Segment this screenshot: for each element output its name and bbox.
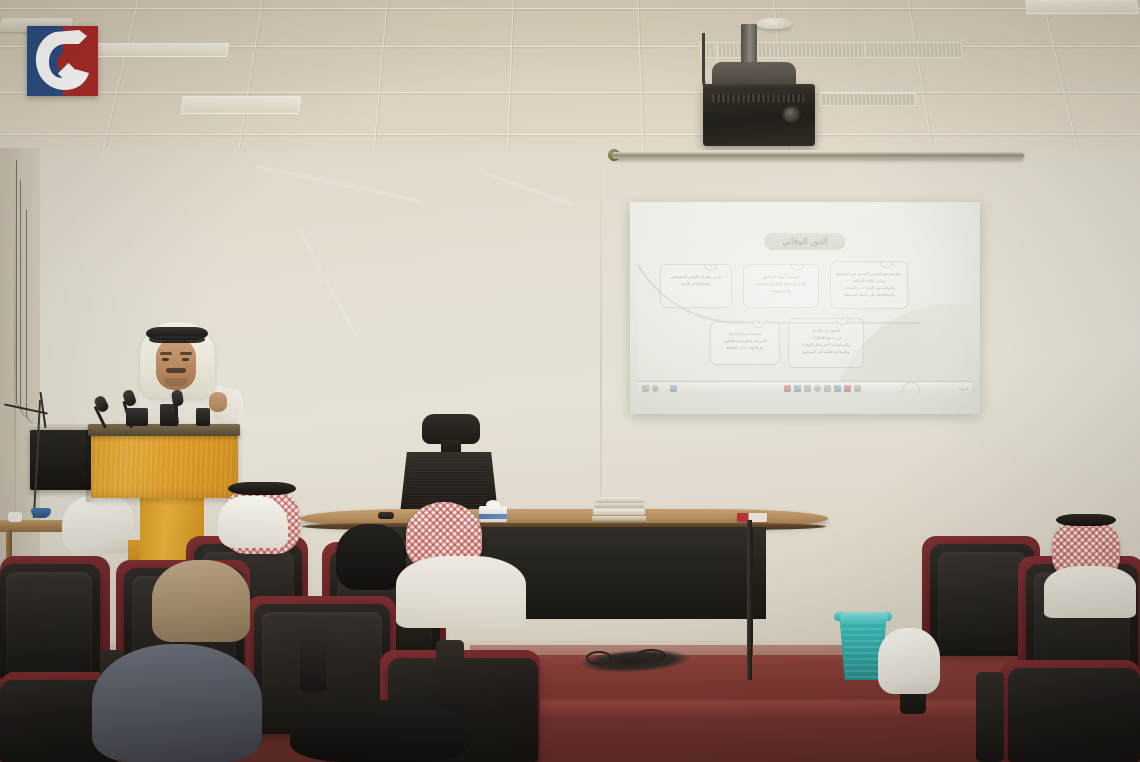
slide-box-line: ونشر ثقافة السلامة bbox=[836, 277, 902, 284]
floor-cable-loop bbox=[586, 651, 612, 665]
air-vent bbox=[863, 42, 962, 58]
chair-mesh bbox=[408, 458, 490, 508]
slide-box-number: ١ bbox=[880, 261, 893, 268]
slide-box: ٢ التوعية بأنواع المخاطر والتعامل معها ب… bbox=[743, 264, 819, 308]
search-icon[interactable] bbox=[652, 385, 659, 392]
table-support-pole bbox=[747, 520, 752, 680]
slide-box-line: التوعية بأنواع المخاطر bbox=[749, 273, 813, 280]
slide-box-line: والوقاية من الحوادث والإصابات bbox=[836, 284, 902, 291]
white-cloth-podium bbox=[218, 496, 288, 548]
slide-box-line: والمسؤولية bbox=[749, 287, 813, 294]
attendee-gray-hood bbox=[92, 644, 262, 762]
slide-box-line: المشاركة الفاعلة bbox=[794, 327, 858, 334]
slide-box-number: ٥ bbox=[752, 321, 765, 328]
slide-box-line: التدريبية والتوعوية بالتعاون bbox=[716, 337, 774, 344]
stacked-book bbox=[594, 503, 644, 508]
slide-box-line: متابعة تنفيذ البرامج bbox=[716, 330, 774, 337]
slide-box: ٣ تعزيز مهارات الوعي المجتمعي بالسلوكيات… bbox=[660, 264, 732, 308]
attendee-black-hijab-front bbox=[290, 700, 470, 762]
recessed-light bbox=[181, 96, 301, 114]
organization-logo bbox=[27, 26, 98, 96]
slide-box-line: تعزيز مهارات الوعي المجتمعي bbox=[666, 273, 726, 280]
red-white-object bbox=[737, 513, 767, 522]
slide-box-line: والتعامل معها بالطرق السليمة bbox=[749, 280, 813, 287]
app-icon[interactable] bbox=[784, 385, 791, 392]
mouse-cursor-icon bbox=[902, 382, 920, 393]
app-icon[interactable] bbox=[854, 385, 861, 392]
slide-box-line: والسلامة العامة في المجتمع bbox=[794, 348, 858, 355]
stacked-book bbox=[596, 497, 644, 502]
attendee-agal bbox=[228, 482, 296, 495]
folder-icon[interactable] bbox=[804, 385, 811, 392]
attendee-shoulder bbox=[1044, 566, 1136, 618]
recessed-light bbox=[95, 43, 229, 57]
presenter-mustache bbox=[166, 368, 186, 373]
taskbar-label bbox=[680, 386, 688, 391]
slide-box-line: والمناسبات المرتبطة بالوقاية bbox=[794, 341, 858, 348]
slide-box-line: بالسلوكيات الآمنة bbox=[666, 280, 726, 287]
presenter-hand bbox=[209, 392, 227, 412]
taskbar-clock: الوقت bbox=[958, 386, 968, 391]
projector-lens-icon bbox=[782, 106, 802, 124]
chart-icon[interactable] bbox=[844, 385, 851, 392]
screen-roller-bar bbox=[612, 152, 1024, 159]
attendee-shoulder bbox=[396, 556, 526, 628]
desktop-taskbar[interactable]: الوقت bbox=[638, 381, 972, 394]
seat-armrest bbox=[300, 626, 326, 692]
lecture-hall-photo: الدور الوقائي ٣ تعزيز مهارات الوعي المجت… bbox=[0, 0, 1140, 762]
air-vent bbox=[820, 93, 917, 106]
start-icon[interactable] bbox=[642, 385, 649, 392]
attendee-tan-hood bbox=[152, 560, 250, 642]
white-cloth bbox=[62, 496, 134, 554]
recessed-light bbox=[1025, 0, 1139, 14]
seat-armrest bbox=[976, 672, 1004, 762]
slide-box-line: رفع مستوى الوعي الصحي في المجتمع bbox=[836, 270, 902, 277]
projection-screen: الدور الوقائي ٣ تعزيز مهارات الوعي المجت… bbox=[630, 202, 980, 414]
smoke-detector-icon bbox=[756, 18, 792, 29]
tissue-sheet bbox=[486, 500, 500, 509]
slide-box: ٥ متابعة تنفيذ البرامج التدريبية والتوعو… bbox=[710, 321, 780, 365]
floor-cable-loop bbox=[636, 649, 666, 662]
attendee-white-thobe bbox=[878, 628, 940, 694]
slide-box: ١ رفع مستوى الوعي الصحي في المجتمع ونشر … bbox=[830, 261, 908, 309]
slide-box-line: مع الجهات ذات العلاقة bbox=[716, 344, 774, 351]
projector-vents bbox=[712, 94, 804, 102]
tissue-box-band bbox=[479, 514, 507, 519]
slide-box-number: ٣ bbox=[704, 264, 717, 271]
white-item bbox=[8, 512, 22, 522]
amplifier bbox=[30, 430, 92, 490]
settings-icon[interactable] bbox=[824, 385, 831, 392]
slide-title: الدور الوقائي bbox=[764, 233, 845, 250]
media-icon[interactable] bbox=[814, 385, 821, 392]
stacked-book bbox=[592, 516, 646, 521]
waste-bin-liner bbox=[840, 612, 888, 624]
presenter-agal-lower bbox=[149, 336, 205, 343]
slide-box-number: ٤ bbox=[836, 318, 849, 325]
dark-small-object bbox=[378, 512, 394, 519]
slide-box-number: ٢ bbox=[791, 264, 804, 271]
attendee-agal bbox=[1056, 514, 1116, 526]
stacked-book bbox=[593, 509, 645, 515]
slide-box: ٤ المشاركة الفاعلة في جميع الفعاليات وال… bbox=[788, 318, 864, 368]
wall-cable bbox=[26, 210, 38, 425]
mail-icon[interactable] bbox=[834, 385, 841, 392]
browser-icon[interactable] bbox=[670, 385, 677, 392]
app-icon[interactable] bbox=[794, 385, 801, 392]
suspended-ceiling bbox=[0, 0, 1140, 152]
blue-container bbox=[31, 508, 51, 518]
slide-box-line: والمحافظة على البيئة المحيطة bbox=[836, 291, 902, 298]
slide-box-line: في جميع الفعاليات bbox=[794, 334, 858, 341]
presentation-slide: الدور الوقائي ٣ تعزيز مهارات الوعي المجت… bbox=[638, 216, 972, 394]
taskbar-label bbox=[662, 386, 667, 391]
